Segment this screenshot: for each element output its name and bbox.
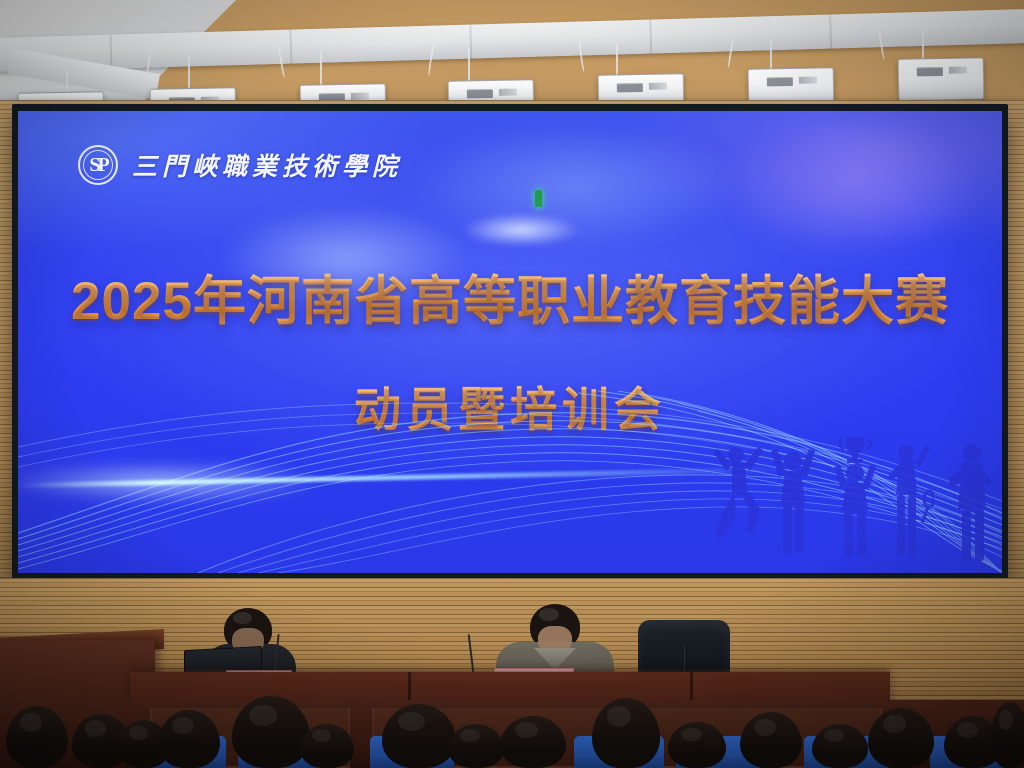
screen-glow [722,111,982,261]
athlete-silhouette-trophy [826,435,884,557]
fixture-hanger [188,52,190,92]
athlete-silhouette-jumping [710,439,768,539]
audience-head [812,724,868,768]
institution-name: 三門峽職業技術學院 [132,147,402,183]
audience-head [448,724,504,768]
audience-head [6,706,68,768]
athlete-silhouette-arms-up [766,443,820,555]
led-screen-bezel: SP 三門峽職業技術學院 2025年河南省高等职业教育技能大赛 动员暨培训会 [12,104,1008,582]
audience-head [668,722,726,768]
institution-logo: SP 三門峽職業技術學院 [78,145,402,185]
audience-head [158,710,220,768]
audience-head [740,712,802,768]
audience-head [868,708,934,768]
ceiling-light-fixture [898,57,985,100]
fixture-hanger [66,52,68,96]
audience-head [990,702,1024,768]
wave-graphics [18,383,1002,573]
led-screen: SP 三門峽職業技術學院 2025年河南省高等职业教育技能大赛 动员暨培训会 [18,111,1002,573]
status-led-icon [535,190,542,207]
lens-flare [461,213,581,247]
audience-head [500,716,566,768]
seal-icon: SP [78,145,118,185]
conference-hall-photo: SP 三門峽職業技術學院 2025年河南省高等职业教育技能大赛 动员暨培训会 [0,0,1024,768]
athlete-silhouette-racket [884,437,934,557]
seal-monogram: SP [89,155,106,175]
athlete-silhouette-holding-book [946,437,1002,561]
event-title-main: 2025年河南省高等职业教育技能大赛 [18,259,1002,335]
audience-head [300,724,354,768]
